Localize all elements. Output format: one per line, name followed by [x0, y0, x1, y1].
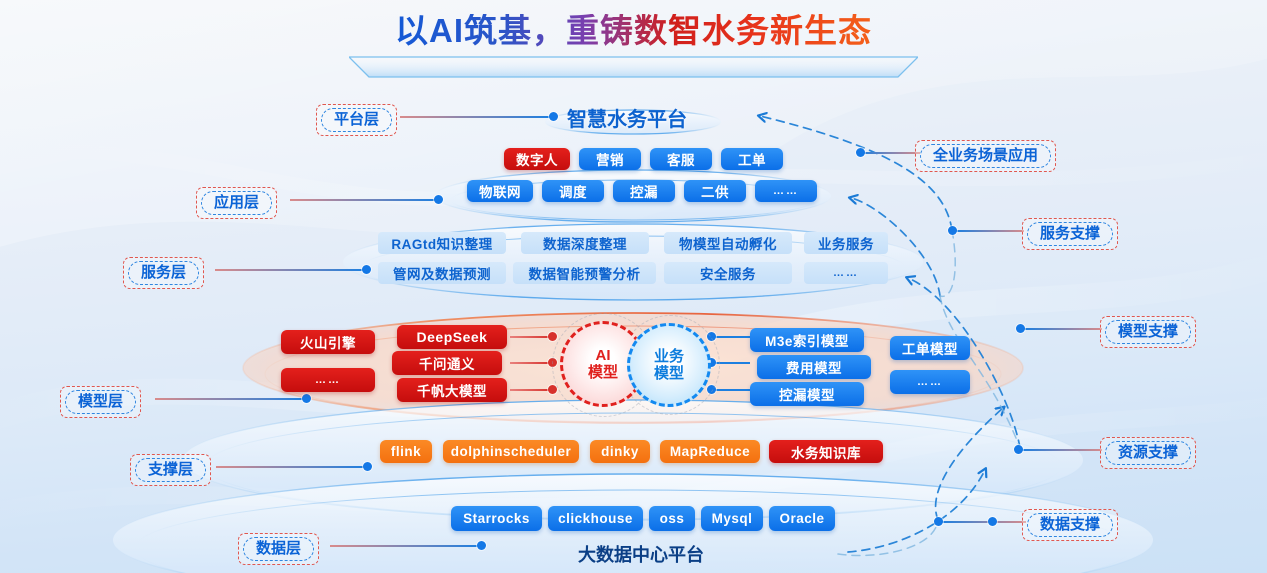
conn-qianwen	[510, 362, 552, 364]
sidebar-item-model-layer[interactable]: 模型层	[60, 386, 141, 418]
resource-support-label: 资源支撑	[1105, 441, 1191, 465]
sidebar-item-model-support[interactable]: 模型支撑	[1100, 316, 1196, 348]
flow-arrow-to-platform	[760, 116, 952, 230]
all-business-scenarios-label: 全业务场景应用	[920, 144, 1051, 168]
diagram-canvas: 以AI筑基，重铸数智水务新生态	[0, 0, 1267, 573]
conn-application	[290, 199, 438, 201]
app-chip-customer-service[interactable]: 客服	[650, 148, 712, 170]
dot-data-support-a	[934, 517, 943, 526]
data-chip-oss[interactable]: oss	[649, 506, 695, 531]
conn-resource-support	[1022, 449, 1102, 451]
svc-chip-more[interactable]: ……	[804, 262, 888, 284]
model-chip-right-more[interactable]: ……	[890, 370, 970, 394]
model-chip-deepseek[interactable]: DeepSeek	[397, 325, 507, 349]
conn-all-scenarios	[860, 152, 920, 154]
support-chip-flink[interactable]: flink	[380, 440, 432, 463]
ai-model-line2: 模型	[588, 364, 618, 381]
sidebar-item-application-layer[interactable]: 应用层	[196, 187, 277, 219]
platform-title: 智慧水务平台	[567, 103, 687, 132]
support-chip-mapreduce[interactable]: MapReduce	[660, 440, 760, 463]
dot-service-support	[948, 226, 957, 235]
dot-platform	[549, 112, 558, 121]
service-support-label: 服务支撑	[1027, 222, 1113, 246]
model-support-label: 模型支撑	[1105, 320, 1191, 344]
conn-service	[215, 269, 365, 271]
svc-chip-smart-warning[interactable]: 数据智能预警分析	[513, 262, 656, 284]
dot-support	[363, 462, 372, 471]
app-chip-more[interactable]: ……	[755, 180, 817, 202]
app-chip-work-order[interactable]: 工单	[721, 148, 783, 170]
model-chip-m3e-index[interactable]: M3e索引模型	[750, 328, 864, 352]
model-chip-qianwen-tongyi[interactable]: 千问通义	[392, 351, 502, 375]
svc-chip-deep-data[interactable]: 数据深度整理	[521, 232, 649, 254]
sidebar-item-resource-support[interactable]: 资源支撑	[1100, 437, 1196, 469]
flow-arrow-to-service	[908, 278, 1020, 448]
application-layer-label: 应用层	[201, 191, 272, 215]
conn-m3e	[712, 336, 750, 338]
conn-model-support	[1024, 328, 1102, 330]
data-support-label: 数据支撑	[1027, 513, 1113, 537]
dot-model-support	[1016, 324, 1025, 333]
platform-layer-label: 平台层	[321, 108, 392, 132]
support-chip-dinky[interactable]: dinky	[590, 440, 650, 463]
title-banner	[349, 56, 918, 78]
base-platform-title: 大数据中心平台	[578, 541, 704, 567]
data-chip-oracle[interactable]: Oracle	[769, 506, 835, 531]
sidebar-item-data-layer[interactable]: 数据层	[238, 533, 319, 565]
conn-data	[330, 545, 480, 547]
dot-data	[477, 541, 486, 550]
sidebar-item-service-layer[interactable]: 服务层	[123, 257, 204, 289]
conn-service-support	[956, 230, 1024, 232]
dot-data-support-b	[988, 517, 997, 526]
page-title: 以AI筑基，重铸数智水务新生态	[395, 14, 872, 47]
conn-model	[155, 398, 305, 400]
support-layer-label: 支撑层	[135, 458, 206, 482]
app-chip-secondary-supply[interactable]: 二供	[684, 180, 746, 202]
support-chip-water-knowledge-base[interactable]: 水务知识库	[769, 440, 883, 463]
flow-arrow-to-model	[936, 408, 1003, 520]
data-layer-label: 数据层	[243, 537, 314, 561]
svc-chip-security-service[interactable]: 安全服务	[664, 262, 792, 284]
dot-resource-support	[1014, 445, 1023, 454]
model-chip-left-more[interactable]: ……	[281, 368, 375, 392]
app-chip-marketing[interactable]: 营销	[579, 148, 641, 170]
svc-chip-thing-model-incubation[interactable]: 物模型自动孵化	[664, 232, 792, 254]
model-chip-work-order[interactable]: 工单模型	[890, 336, 970, 360]
service-layer-label: 服务层	[128, 261, 199, 285]
app-chip-iot[interactable]: 物联网	[467, 180, 533, 202]
sidebar-item-service-support[interactable]: 服务支撑	[1022, 218, 1118, 250]
model-chip-leak-control[interactable]: 控漏模型	[750, 382, 864, 406]
sidebar-item-all-business-scenarios[interactable]: 全业务场景应用	[915, 140, 1056, 172]
svc-chip-business-service[interactable]: 业务服务	[804, 232, 888, 254]
business-model-line2: 模型	[654, 365, 684, 382]
conn-deepseek	[510, 336, 552, 338]
dot-deepseek	[548, 332, 557, 341]
business-model-circle[interactable]: 业务 模型	[627, 323, 711, 407]
conn-support	[216, 466, 366, 468]
model-layer-label: 模型层	[65, 390, 136, 414]
page-title-wrap: 以AI筑基，重铸数智水务新生态	[0, 14, 1267, 47]
sidebar-item-support-layer[interactable]: 支撑层	[130, 454, 211, 486]
conn-qianfan	[510, 389, 552, 391]
sidebar-item-data-support[interactable]: 数据支撑	[1022, 509, 1118, 541]
flow-arrow-to-support	[848, 470, 985, 552]
model-chip-fee[interactable]: 费用模型	[757, 355, 871, 379]
data-chip-mysql[interactable]: Mysql	[701, 506, 763, 531]
dot-application	[434, 195, 443, 204]
support-chip-dolphinscheduler[interactable]: dolphinscheduler	[443, 440, 579, 463]
svc-chip-rag-knowledge[interactable]: RAGtd知识整理	[378, 232, 506, 254]
data-chip-clickhouse[interactable]: clickhouse	[548, 506, 643, 531]
sidebar-item-platform-layer[interactable]: 平台层	[316, 104, 397, 136]
model-chip-qianfan[interactable]: 千帆大模型	[397, 378, 507, 402]
business-model-line1: 业务	[654, 348, 684, 365]
dot-model	[302, 394, 311, 403]
app-chip-digital-human[interactable]: 数字人	[504, 148, 570, 170]
svc-chip-pipe-forecast[interactable]: 管网及数据预测	[378, 262, 506, 284]
conn-leak	[712, 389, 750, 391]
model-chip-volcano-engine[interactable]: 火山引擎	[281, 330, 375, 354]
conn-data-support	[942, 521, 1026, 523]
dot-service	[362, 265, 371, 274]
app-chip-dispatch[interactable]: 调度	[542, 180, 604, 202]
conn-platform	[400, 116, 550, 118]
dot-all-scenarios	[856, 148, 865, 157]
ai-model-line1: AI	[595, 347, 610, 364]
data-chip-starrocks[interactable]: Starrocks	[451, 506, 542, 531]
app-chip-leak-control[interactable]: 控漏	[613, 180, 675, 202]
